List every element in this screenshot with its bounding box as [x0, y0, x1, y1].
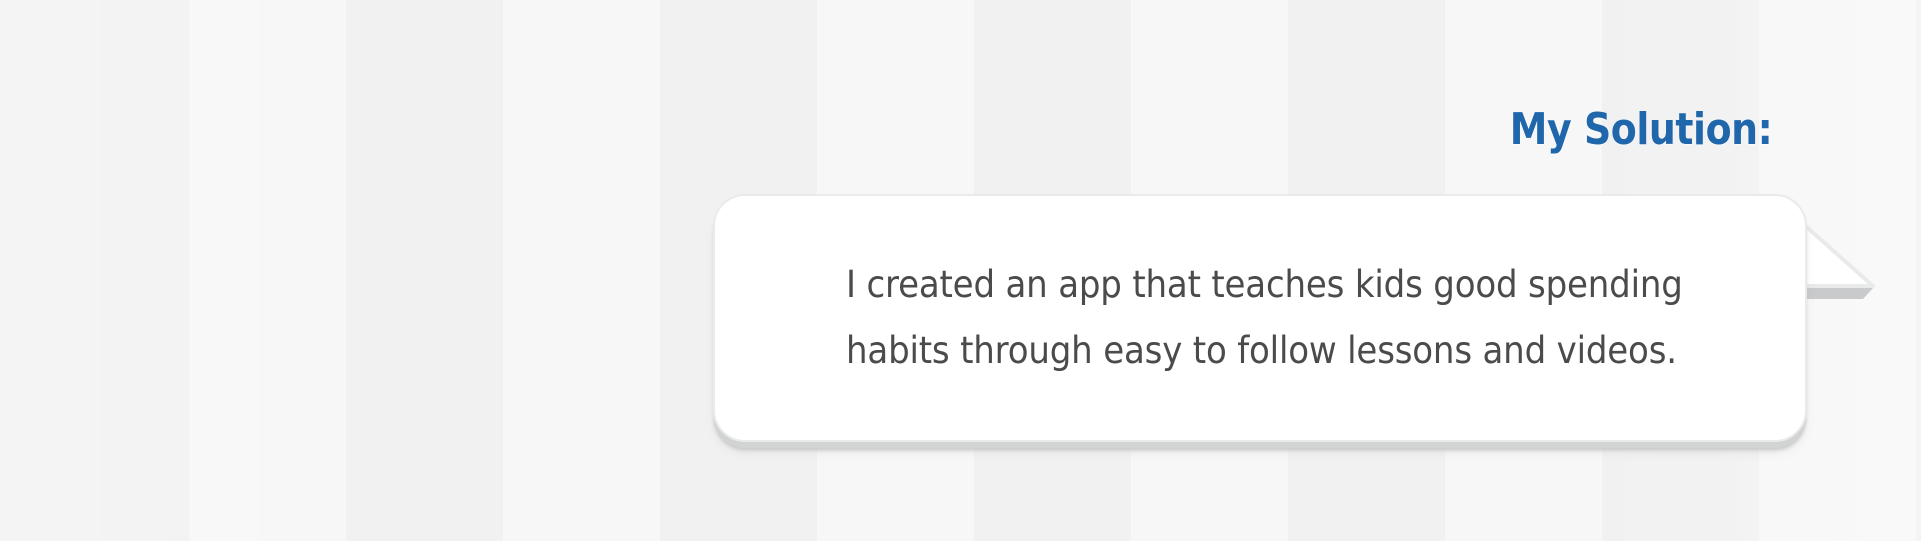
- page-title: My Solution:: [1509, 108, 1772, 152]
- section-heading: My Solution:: [0, 108, 1772, 152]
- speech-bubble: I created an app that teaches kids good …: [713, 194, 1807, 444]
- speech-bubble-text: I created an app that teaches kids good …: [846, 252, 1674, 384]
- slide-canvas: My Solution: I created an app that teach…: [0, 0, 1921, 541]
- speech-bubble-body: I created an app that teaches kids good …: [713, 194, 1807, 442]
- bubble-line-1: I created an app that teaches kids good …: [846, 252, 1674, 318]
- bubble-line-2: habits through easy to follow lessons an…: [846, 318, 1674, 384]
